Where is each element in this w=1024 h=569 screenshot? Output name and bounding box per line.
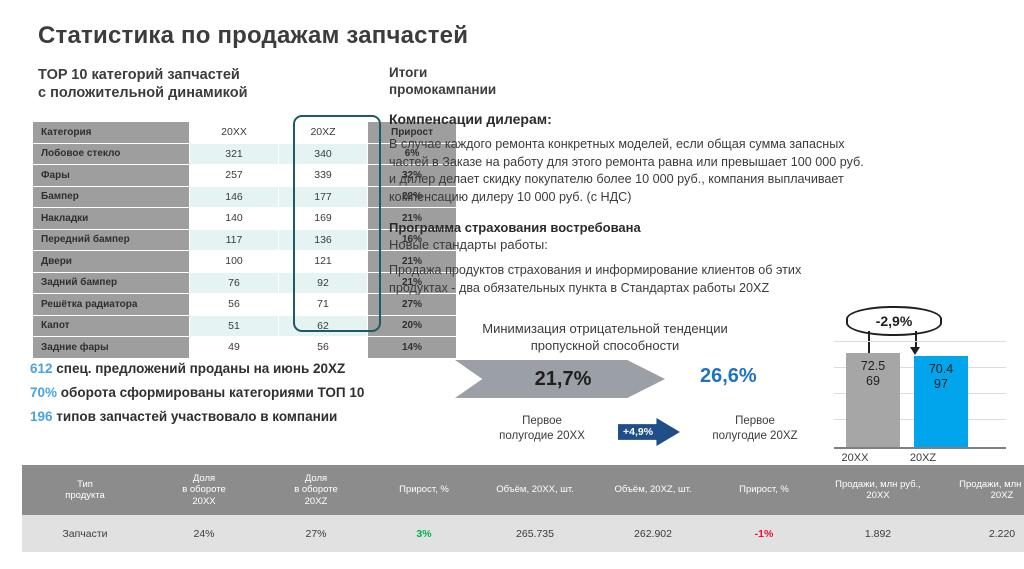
cell-category: Фары	[33, 165, 190, 187]
insurance-subtitle: Новые стандарты работы:	[389, 237, 1001, 252]
bar-value-label: 70.4 97	[914, 362, 968, 392]
x-tick-20xz: 20XZ	[895, 452, 951, 464]
cell-category: Передний бампер	[33, 229, 190, 251]
cell-20xz: 339	[279, 165, 368, 187]
cell-20xx: 257	[190, 165, 279, 187]
cell-20xx: 140	[190, 208, 279, 230]
throughput-block: Минимизация отрицательной тенденции проп…	[455, 320, 825, 454]
header-category: Категория	[33, 122, 190, 144]
cell-20xz: 56	[279, 337, 368, 359]
cell-volume-20xx: 265.735	[476, 515, 594, 552]
col-product-type: Тип продукта	[22, 465, 148, 515]
header-year-20xx: 20XX	[190, 122, 279, 144]
stat-key: 196	[30, 409, 53, 424]
summary-table-wrap: Тип продукта Доля в обороте 20XX Доля в …	[22, 465, 1002, 552]
left-section-heading: TOP 10 категорий запчастей с положительн…	[38, 66, 248, 102]
cell-20xx: 321	[190, 143, 279, 165]
cell-20xz: 340	[279, 143, 368, 165]
cell-sales-20xx: 1.892	[816, 515, 940, 552]
slide-canvas: Статистика по продажам запчастей TOP 10 …	[0, 0, 1024, 569]
cell-category: Капот	[33, 315, 190, 337]
table-row: Задние фары 49 56 14%	[33, 337, 457, 359]
cell-20xz: 169	[279, 208, 368, 230]
cell-20xx: 117	[190, 229, 279, 251]
col-share-20xx: Доля в обороте 20XX	[148, 465, 260, 515]
cell-20xz: 177	[279, 186, 368, 208]
stat-text: оборота сформированы категориями ТОП 10	[61, 385, 365, 400]
period-legend-row: Первое полугодие 20XX +4,9% Первое полуг…	[455, 414, 825, 454]
cell-category: Двери	[33, 251, 190, 273]
cell-share-growth: 3%	[372, 515, 476, 552]
growth-arrow-icon: +4,9%	[618, 418, 680, 446]
header-year-20xz: 20XZ	[279, 122, 368, 144]
col-sales-20xx: Продажи, млн руб., 20XX	[816, 465, 940, 515]
col-volume-growth: Прирост, %	[712, 465, 816, 515]
chart-axis	[834, 447, 1006, 450]
cell-share-20xz: 27%	[260, 515, 372, 552]
col-volume-20xx: Объём, 20XX, шт.	[476, 465, 594, 515]
growth-arrow-value: +4,9%	[623, 426, 653, 438]
right-text-panel: Итоги промокампании Компенсации дилерам:…	[389, 64, 1001, 297]
list-item: 70% оборота сформированы категориями ТОП…	[30, 381, 364, 405]
cell-20xx: 146	[190, 186, 279, 208]
stat-text: типов запчастей участвовало в компании	[56, 409, 337, 424]
period-label-right: Первое полугодие 20XZ	[690, 414, 820, 444]
insurance-title: Программа страхования востребована	[389, 220, 1001, 235]
cell-20xx: 49	[190, 337, 279, 359]
cell-20xz: 62	[279, 315, 368, 337]
list-item: 196 типов запчастей участвовало в компан…	[30, 405, 364, 429]
cell-20xz: 136	[279, 229, 368, 251]
col-volume-20xz: Объём, 20XZ, шт.	[594, 465, 712, 515]
cell-category: Решётка радиатора	[33, 294, 190, 316]
cell-20xx: 51	[190, 315, 279, 337]
cell-growth: 20%	[368, 315, 457, 337]
callout-oval: -2,9%	[846, 306, 942, 336]
chevron-shape: 21,7%	[455, 360, 665, 398]
cell-category: Накладки	[33, 208, 190, 230]
volume-bar-chart: 72.5 69 70.4 97	[828, 337, 1006, 449]
bar-20xx: 72.5 69	[846, 353, 900, 447]
cell-20xx: 76	[190, 272, 279, 294]
cell-category: Лобовое стекло	[33, 143, 190, 165]
chevron-row: 21,7% 26,6%	[455, 360, 825, 402]
cell-category: Бампер	[33, 186, 190, 208]
period-label-left: Первое полугодие 20XX	[477, 414, 607, 444]
summary-table: Тип продукта Доля в обороте 20XX Доля в …	[22, 465, 1024, 552]
cell-volume-growth: -1%	[712, 515, 816, 552]
throughput-target-value: 26,6%	[700, 365, 757, 388]
insurance-body: Продажа продуктов страхования и информир…	[389, 262, 1001, 297]
cell-20xz: 121	[279, 251, 368, 273]
chevron-value: 21,7%	[535, 368, 592, 391]
x-tick-20xx: 20XX	[827, 452, 883, 464]
throughput-caption: Минимизация отрицательной тенденции проп…	[455, 320, 755, 354]
callout-value: -2,9%	[876, 313, 913, 329]
chart-callout: -2,9%	[846, 306, 938, 332]
table-row: Капот 51 62 20%	[33, 315, 457, 337]
cell-growth: 14%	[368, 337, 457, 359]
stat-text: спец. предложений проданы на июнь 20XZ	[56, 361, 345, 376]
compensation-title: Компенсации дилерам:	[389, 111, 1001, 127]
cell-category: Задний бампер	[33, 272, 190, 294]
cell-volume-20xz: 262.902	[594, 515, 712, 552]
bar-20xz: 70.4 97	[914, 356, 968, 447]
table-row: Запчасти 24% 27% 3% 265.735 262.902 -1% …	[22, 515, 1024, 552]
summary-header-row: Тип продукта Доля в обороте 20XX Доля в …	[22, 465, 1024, 515]
bar-value-label: 72.5 69	[846, 359, 900, 389]
list-item: 612 спец. предложений проданы на июнь 20…	[30, 357, 364, 381]
cell-product-type: Запчасти	[22, 515, 148, 552]
cell-20xz: 92	[279, 272, 368, 294]
cell-20xx: 100	[190, 251, 279, 273]
results-heading: Итоги промокампании	[389, 64, 1001, 98]
col-sales-20xz: Продажи, млн руб., 20XZ	[940, 465, 1024, 515]
gridline	[834, 341, 1006, 342]
cell-sales-20xz: 2.220	[940, 515, 1024, 552]
cell-share-20xx: 24%	[148, 515, 260, 552]
stat-key: 70%	[30, 385, 57, 400]
col-share-20xz: Доля в обороте 20XZ	[260, 465, 372, 515]
key-stats-list: 612 спец. предложений проданы на июнь 20…	[30, 357, 364, 429]
cell-20xx: 56	[190, 294, 279, 316]
compensation-body: В случае каждого ремонта конкретных моде…	[389, 136, 1001, 206]
stat-key: 612	[30, 361, 53, 376]
page-title: Статистика по продажам запчастей	[38, 22, 468, 50]
cell-20xz: 71	[279, 294, 368, 316]
cell-category: Задние фары	[33, 337, 190, 359]
col-share-growth: Прирост, %	[372, 465, 476, 515]
